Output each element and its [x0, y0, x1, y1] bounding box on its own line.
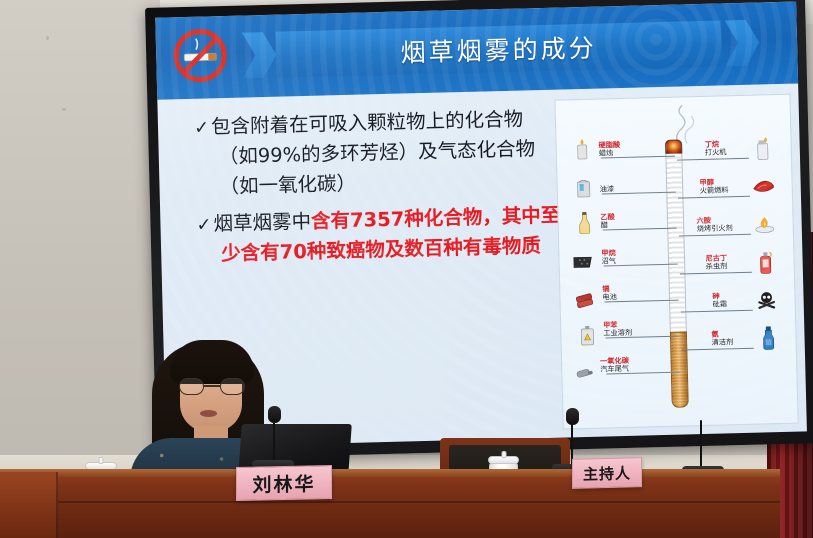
desk-top-edge [0, 469, 780, 477]
check-icon: ✓ [196, 214, 212, 235]
rocket-fuel-icon [751, 175, 776, 198]
diagram-label-left-4: 镉 电池 [602, 285, 617, 301]
cigarette-filter [670, 331, 689, 407]
solvent-canister-icon [577, 324, 598, 346]
nameplate-speaker: 刘林华 [236, 465, 332, 501]
biogas-icon [573, 250, 594, 272]
teacup-knob [501, 451, 506, 458]
slide-body-text: ✓包含附着在可吸入颗粒物上的化合物 （如99%的多环芳烃）及气态化合物 （如一氧… [194, 103, 596, 270]
diagram-label-right-2: 六胺 烧烤引火剂 [696, 216, 732, 233]
slide-title: 烟草烟雾的成分 [400, 29, 597, 70]
banner-body: 烟草烟雾的成分 [276, 20, 722, 77]
conference-desk [0, 472, 780, 538]
diagram-label-right-3: 尼古丁 杀虫剂 [705, 254, 727, 271]
microphone-gooseneck [700, 420, 702, 468]
diagram-label-right-4: 砷 砒霜 [712, 292, 727, 308]
skull-poison-icon [756, 289, 777, 311]
highlight-red-1: 含有7357种化合物，其中至 [311, 203, 561, 232]
wall-mark [62, 108, 66, 111]
lens-left [179, 378, 204, 395]
cleaner-bottle-icon [758, 327, 779, 349]
battery-icon [574, 288, 595, 310]
leader-line [678, 196, 750, 199]
wall-mark [46, 36, 49, 40]
no-smoking-icon [169, 26, 230, 85]
firelighter-icon [752, 213, 777, 236]
vinegar-bottle-icon [574, 212, 595, 234]
lighter-icon [752, 137, 773, 159]
chevron-left-icon [242, 32, 277, 79]
leader-line [682, 348, 754, 351]
diagram-label-right-5: 氨 清洁剂 [711, 330, 733, 347]
bullet-line-1-text: 包含附着在可吸入颗粒物上的化合物 [211, 107, 523, 138]
insecticide-icon [755, 251, 776, 273]
cigarette-diagram-panel: 硬脂酸 蜡烛 油漆 乙酸 醋 甲烷 沼气 [554, 94, 798, 430]
nameplate-speaker-text: 刘林华 [252, 469, 315, 497]
exhaust-pipe-icon [574, 362, 595, 384]
glasses-bridge [204, 385, 220, 387]
glasses-icon [178, 378, 246, 396]
candle-icon [572, 138, 593, 160]
diagram-label-left-0: 硬脂酸 蜡烛 [599, 141, 621, 158]
diagram-label-left-3: 甲烷 沼气 [601, 249, 616, 265]
nameplate-host-text: 主持人 [583, 462, 631, 484]
desk-side-panel [0, 472, 58, 538]
mouth [200, 410, 217, 417]
diagram-label-right-0: 丁烷 打火机 [705, 140, 727, 157]
desk-seam [0, 501, 780, 503]
check-icon: ✓ [194, 117, 210, 138]
cigarette-paper [665, 153, 686, 331]
leader-line [680, 272, 752, 275]
diagram-label-left-2: 乙酸 醋 [600, 213, 615, 229]
diagram-label-left-5: 甲苯 工业溶剂 [603, 321, 632, 338]
microphone-gooseneck [273, 420, 275, 462]
nameplate-host: 主持人 [572, 457, 642, 489]
leader-line [677, 158, 749, 161]
lens-right [220, 378, 245, 395]
presentation-photo-scene: 烟草烟雾的成分 ✓包含附着在可吸入颗粒物上的化合物 （如99%的多环芳烃）及气态… [0, 0, 813, 538]
diagram-label-right-1: 甲醇 火箭燃料 [700, 178, 729, 195]
highlight-lead: 烟草烟雾中 [213, 210, 311, 235]
diagram-label-left-6: 一氧化碳 汽车尾气 [600, 357, 629, 374]
teacup-knob [99, 457, 104, 464]
paint-can-icon [573, 176, 594, 198]
chevron-right-icon [724, 19, 759, 66]
leader-line [681, 310, 753, 313]
diagram-label-left-1: 油漆 [600, 185, 615, 193]
leader-line [679, 234, 751, 237]
